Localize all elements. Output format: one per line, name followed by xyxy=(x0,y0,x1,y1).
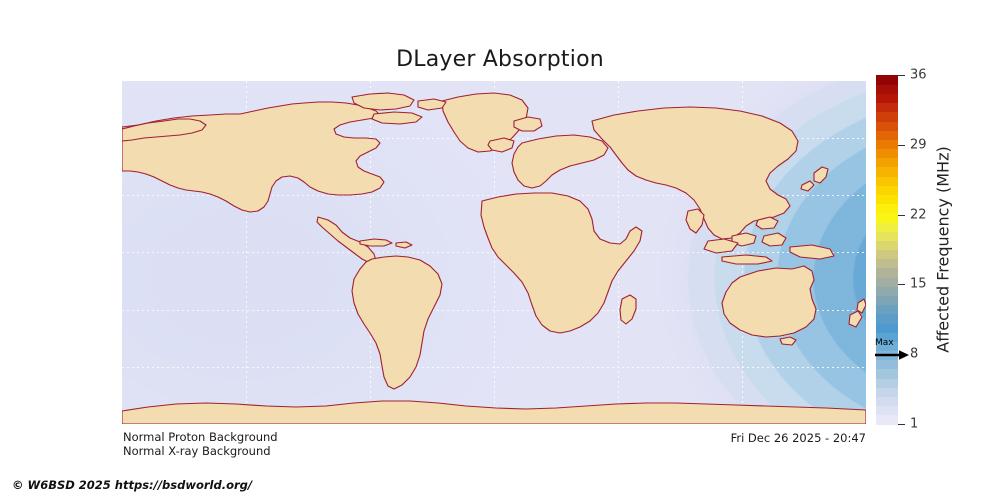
colorbar-segment xyxy=(876,204,898,214)
colorbar-axis-label: Affected Frequency (MHz) xyxy=(931,75,955,424)
colorbar-segment xyxy=(876,194,898,204)
sulawesi-island xyxy=(762,233,786,246)
colorbar-segment xyxy=(876,277,898,287)
colorbar-segment xyxy=(876,406,898,416)
caribbean-islands xyxy=(360,239,392,246)
north-america-landmass xyxy=(122,102,384,212)
world-absorption-map[interactable] xyxy=(122,81,866,424)
colorbar-segment xyxy=(876,295,898,305)
india-landmass xyxy=(686,209,704,233)
colorbar-segment xyxy=(876,112,898,122)
australia-landmass xyxy=(722,266,816,337)
colorbar-segment xyxy=(876,167,898,177)
colorbar-tick-label: 29 xyxy=(910,138,927,151)
copyright-label: © W6BSD 2025 https://bsdworld.org/ xyxy=(12,478,252,492)
colorbar-segment xyxy=(876,158,898,168)
colorbar-segment xyxy=(876,84,898,94)
hispaniola-island xyxy=(396,242,412,248)
colorbar-tick xyxy=(898,424,905,425)
max-marker-label: Max xyxy=(875,338,894,348)
colorbar-segment xyxy=(876,259,898,269)
colorbar-segment xyxy=(876,286,898,296)
colorbar-segment xyxy=(876,103,898,113)
africa-landmass xyxy=(481,193,642,333)
colorbar-segment xyxy=(876,415,898,425)
affected-frequency-colorbar[interactable] xyxy=(876,75,898,424)
south-america-landmass xyxy=(352,256,442,389)
colorbar-segment xyxy=(876,231,898,241)
new-guinea-island xyxy=(790,245,834,259)
colorbar-segment xyxy=(876,148,898,158)
max-marker: Max xyxy=(874,338,914,362)
colorbar-tick xyxy=(898,215,905,216)
colorbar-segment xyxy=(876,130,898,140)
colorbar-tick xyxy=(898,145,905,146)
figure-root: DLayer Absorption xyxy=(0,0,1000,500)
colorbar-segment xyxy=(876,139,898,149)
colorbar-segment xyxy=(876,121,898,131)
colorbar-gradient xyxy=(876,75,898,424)
colorbar-segment xyxy=(876,213,898,223)
tasmania-island xyxy=(780,337,796,345)
colorbar-tick xyxy=(898,75,905,76)
colorbar-segment xyxy=(876,240,898,250)
colorbar-segment xyxy=(876,268,898,278)
arctic-island-b xyxy=(372,112,422,124)
madagascar-island xyxy=(620,295,636,324)
sumatra-island xyxy=(704,239,738,253)
colorbar-segment xyxy=(876,75,898,85)
colorbar-segment xyxy=(876,222,898,232)
colorbar-segment xyxy=(876,369,898,379)
colorbar-segment xyxy=(876,387,898,397)
colorbar-segment xyxy=(876,378,898,388)
colorbar-segment xyxy=(876,176,898,186)
british-isles xyxy=(488,138,514,152)
colorbar-segment xyxy=(876,396,898,406)
java-island xyxy=(722,255,772,264)
page-title: DLayer Absorption xyxy=(0,47,1000,72)
colorbar-segment xyxy=(876,185,898,195)
colorbar-segment xyxy=(876,305,898,315)
colorbar-segment xyxy=(876,323,898,333)
xray-background-note: Normal X-ray Background xyxy=(123,444,271,458)
europe-landmass xyxy=(512,135,608,188)
colorbar-segment xyxy=(876,93,898,103)
colorbar-tick-label: 1 xyxy=(910,418,918,431)
coastlines-layer xyxy=(122,81,866,424)
arctic-island-c xyxy=(418,99,446,110)
colorbar-tick-label: 15 xyxy=(910,278,927,291)
colorbar-segment xyxy=(876,314,898,324)
new-zealand-south xyxy=(849,311,862,327)
japan-island-south xyxy=(801,181,814,191)
colorbar-segment xyxy=(876,250,898,260)
proton-background-note: Normal Proton Background xyxy=(123,430,278,444)
timestamp-label: Fri Dec 26 2025 - 20:47 xyxy=(731,431,866,445)
colorbar-tick-label: 22 xyxy=(910,208,927,221)
japan-island xyxy=(814,167,828,183)
right-arrow-icon xyxy=(875,350,909,360)
colorbar-tick xyxy=(898,284,905,285)
antarctica-landmass xyxy=(122,401,866,424)
colorbar-axis-label-text: Affected Frequency (MHz) xyxy=(934,146,953,352)
